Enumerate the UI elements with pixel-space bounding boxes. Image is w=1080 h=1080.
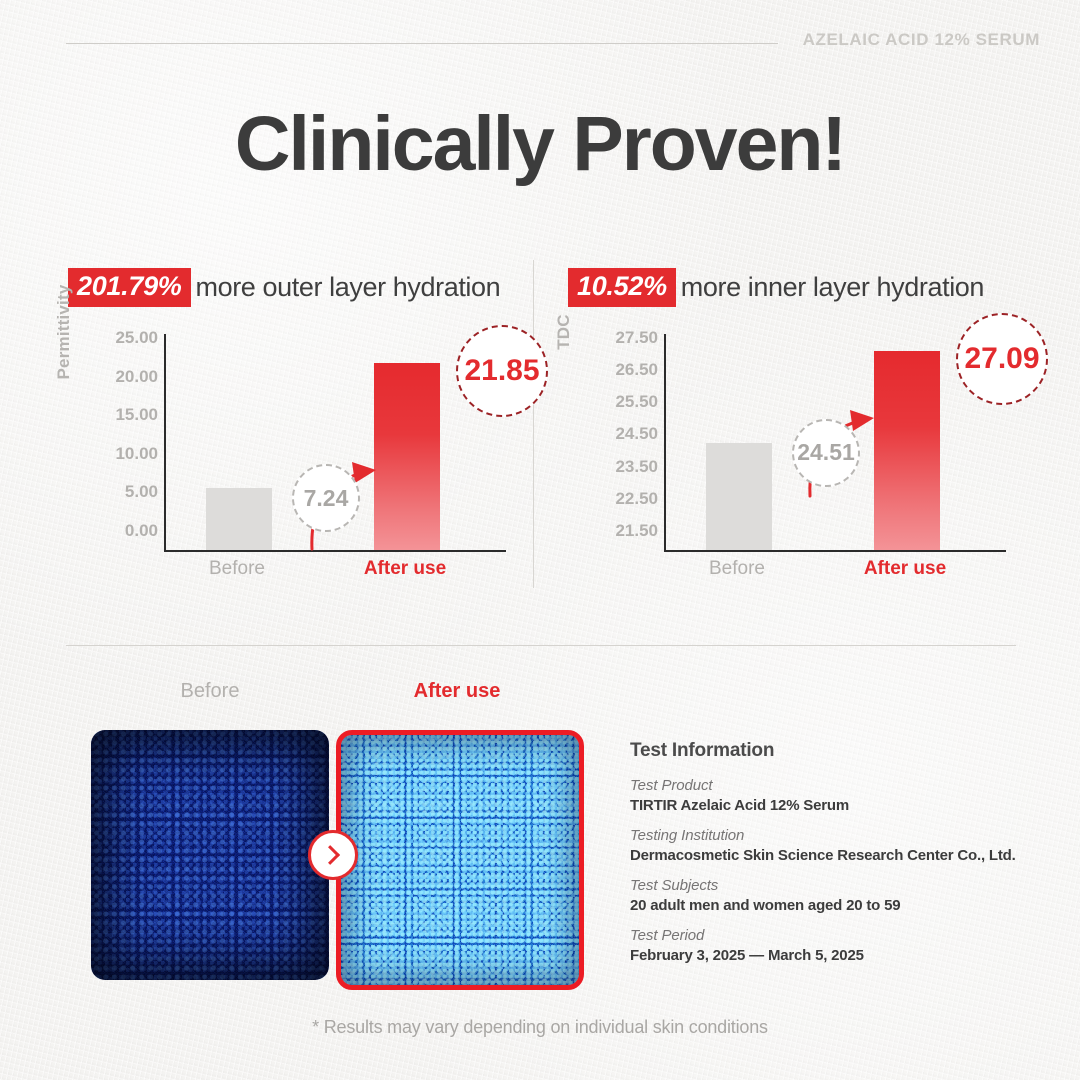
test-info-row: Test Subjects 20 adult men and women age… [630, 877, 1030, 914]
x-axis-labels-inner: Before After use [664, 558, 1004, 588]
headline-text-outer: more outer layer hydration [196, 272, 501, 303]
chart-headline-inner: 10.52%more inner layer hydration [568, 268, 984, 307]
chart-headline-outer: 201.79%more outer layer hydration [68, 268, 500, 307]
page-title: Clinically Proven! [0, 100, 1080, 189]
value-bubble-after-outer: 21.85 [456, 325, 548, 417]
test-info-row: Test Period February 3, 2025 — March 5, … [630, 927, 1030, 964]
header-rule [66, 43, 778, 44]
test-info-label: Testing Institution [630, 827, 1030, 844]
chevron-right-icon [308, 830, 358, 880]
test-info-label: Test Subjects [630, 877, 1030, 894]
test-information-title: Test Information [630, 740, 1030, 762]
chart-panel-inner-layer: 10.52%more inner layer hydration TDC 27.… [560, 258, 1030, 588]
x-axis-labels-outer: Before After use [164, 558, 504, 588]
test-info-value: TIRTIR Azelaic Acid 12% Serum [630, 797, 1030, 814]
test-info-value: 20 adult men and women aged 20 to 59 [630, 897, 1030, 914]
test-info-value: February 3, 2025 — March 5, 2025 [630, 947, 1030, 964]
test-info-value: Dermacosmetic Skin Science Research Cent… [630, 847, 1030, 864]
comparison-label-before: Before [181, 680, 240, 703]
test-info-label: Test Period [630, 927, 1030, 944]
product-kicker: AZELAIC ACID 12% SERUM [803, 30, 1040, 50]
test-info-row: Testing Institution Dermacosmetic Skin S… [630, 827, 1030, 864]
x-label-after-inner: After use [864, 558, 946, 580]
charts-section: 201.79%more outer layer hydration Permit… [0, 258, 1080, 588]
value-bubble-after-inner: 27.09 [956, 313, 1048, 405]
headline-text-inner: more inner layer hydration [681, 272, 984, 303]
x-label-before-inner: Before [709, 558, 765, 580]
percent-badge-inner: 10.52% [568, 268, 676, 307]
charts-vertical-divider [533, 260, 534, 588]
section-divider [66, 645, 1016, 646]
skin-image-before [91, 730, 329, 980]
comparison-label-after: After use [414, 680, 501, 703]
bar-chart-inner: TDC 27.50 26.50 25.50 24.50 23.50 22.50 … [560, 336, 1030, 588]
test-info-row: Test Product TIRTIR Azelaic Acid 12% Ser… [630, 777, 1030, 814]
x-label-after-outer: After use [364, 558, 446, 580]
value-bubble-before-outer: 7.24 [292, 464, 360, 532]
skin-image-after [336, 730, 584, 990]
value-bubble-before-inner: 24.51 [792, 419, 860, 487]
x-label-before-outer: Before [209, 558, 265, 580]
test-info-label: Test Product [630, 777, 1030, 794]
chevron-glyph [320, 845, 340, 865]
percent-badge-outer: 201.79% [68, 268, 191, 307]
disclaimer-footnote: * Results may vary depending on individu… [0, 1017, 1080, 1038]
chart-panel-outer-layer: 201.79%more outer layer hydration Permit… [60, 258, 530, 588]
bar-chart-outer: Permittivity 25.00 20.00 15.00 10.00 5.0… [60, 336, 530, 588]
test-information-block: Test Information Test Product TIRTIR Aze… [630, 740, 1030, 977]
